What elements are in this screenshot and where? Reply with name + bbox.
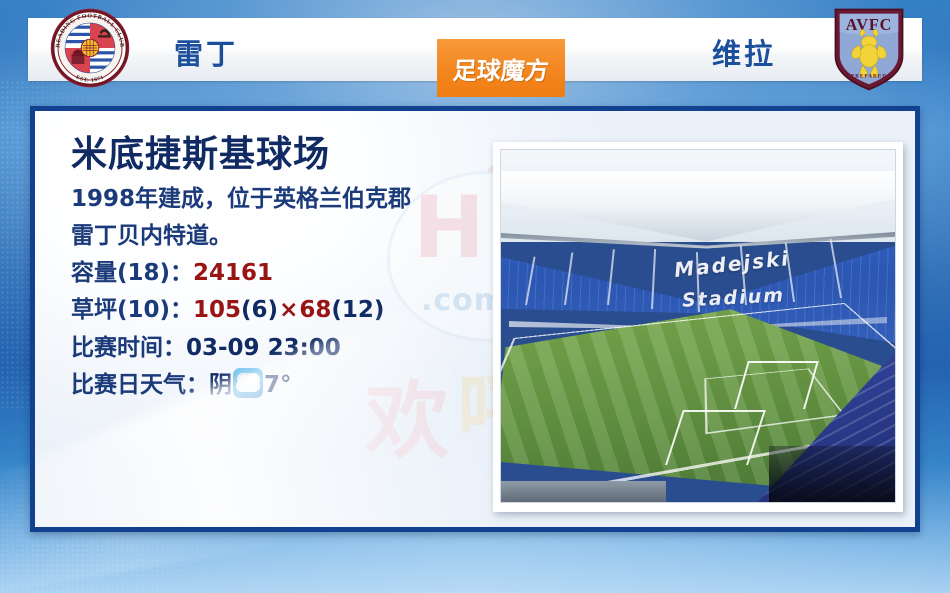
stadium-info-card: H .com 欢 呼 米底捷斯基球场 1998年建成，位于英格兰伯克郡 雷丁贝内… xyxy=(30,106,920,532)
home-team-name: 雷丁 xyxy=(174,40,238,69)
pitch-separator: × xyxy=(278,297,299,323)
pitch-length-value: 105 xyxy=(193,297,241,323)
brand-logo-text: 足球魔方 xyxy=(452,51,550,86)
cloudy-icon xyxy=(233,368,263,398)
photo-dark-corner xyxy=(769,446,895,502)
stadium-title: 米底捷斯基球场 xyxy=(71,135,491,175)
stadium-description-line-2: 雷丁贝内特道。 xyxy=(71,218,491,255)
weather-label: 比赛日天气： xyxy=(71,372,209,398)
pitch-length-rank: (6) xyxy=(241,297,278,323)
aston-villa-crest-icon: AVFC PREPARED xyxy=(830,6,908,92)
match-time-row: 比赛时间：03-09 23:00 xyxy=(71,330,491,367)
stadium-photo: Madejski Stadium xyxy=(500,149,896,503)
photo-bottom-walkway xyxy=(501,481,666,502)
header-bar: 雷丁 维拉 足球魔方 xyxy=(28,18,922,81)
stadium-description-line-1: 1998年建成，位于英格兰伯克郡 xyxy=(71,181,491,218)
pitch-width-rank: (12) xyxy=(331,297,384,323)
svg-text:AVFC: AVFC xyxy=(846,15,893,34)
away-team-name: 维拉 xyxy=(712,40,776,69)
capacity-label: 容量(18)： xyxy=(71,260,193,286)
weather-temperature: 7° xyxy=(264,372,292,398)
match-time-value: 03-09 23:00 xyxy=(186,335,341,361)
pitch-row: 草坪(10)：105(6)×68(12) xyxy=(71,292,491,329)
match-time-label: 比赛时间： xyxy=(71,335,186,361)
svg-text:PREPARED: PREPARED xyxy=(851,73,887,79)
photo-goal-far xyxy=(734,361,819,409)
weather-row: 比赛日天气：阴7° xyxy=(71,367,491,404)
weather-condition: 阴 xyxy=(209,372,232,398)
brand-logo-box[interactable]: 足球魔方 xyxy=(437,39,565,97)
match-stadium-infographic: 雷丁 维拉 足球魔方 xyxy=(0,0,950,593)
reading-fc-crest-icon: READING FOOTBALL CLUB EST. 1871 xyxy=(50,8,130,88)
pitch-width-value: 68 xyxy=(299,297,331,323)
stadium-info-block: 米底捷斯基球场 1998年建成，位于英格兰伯克郡 雷丁贝内特道。 容量(18)：… xyxy=(71,135,491,404)
stadium-photo-frame[interactable]: Madejski Stadium xyxy=(493,142,903,512)
photo-signage-line-1: Madejski xyxy=(673,246,791,282)
capacity-value: 24161 xyxy=(193,260,273,286)
capacity-row: 容量(18)：24161 xyxy=(71,255,491,292)
pitch-label: 草坪(10)： xyxy=(71,297,193,323)
